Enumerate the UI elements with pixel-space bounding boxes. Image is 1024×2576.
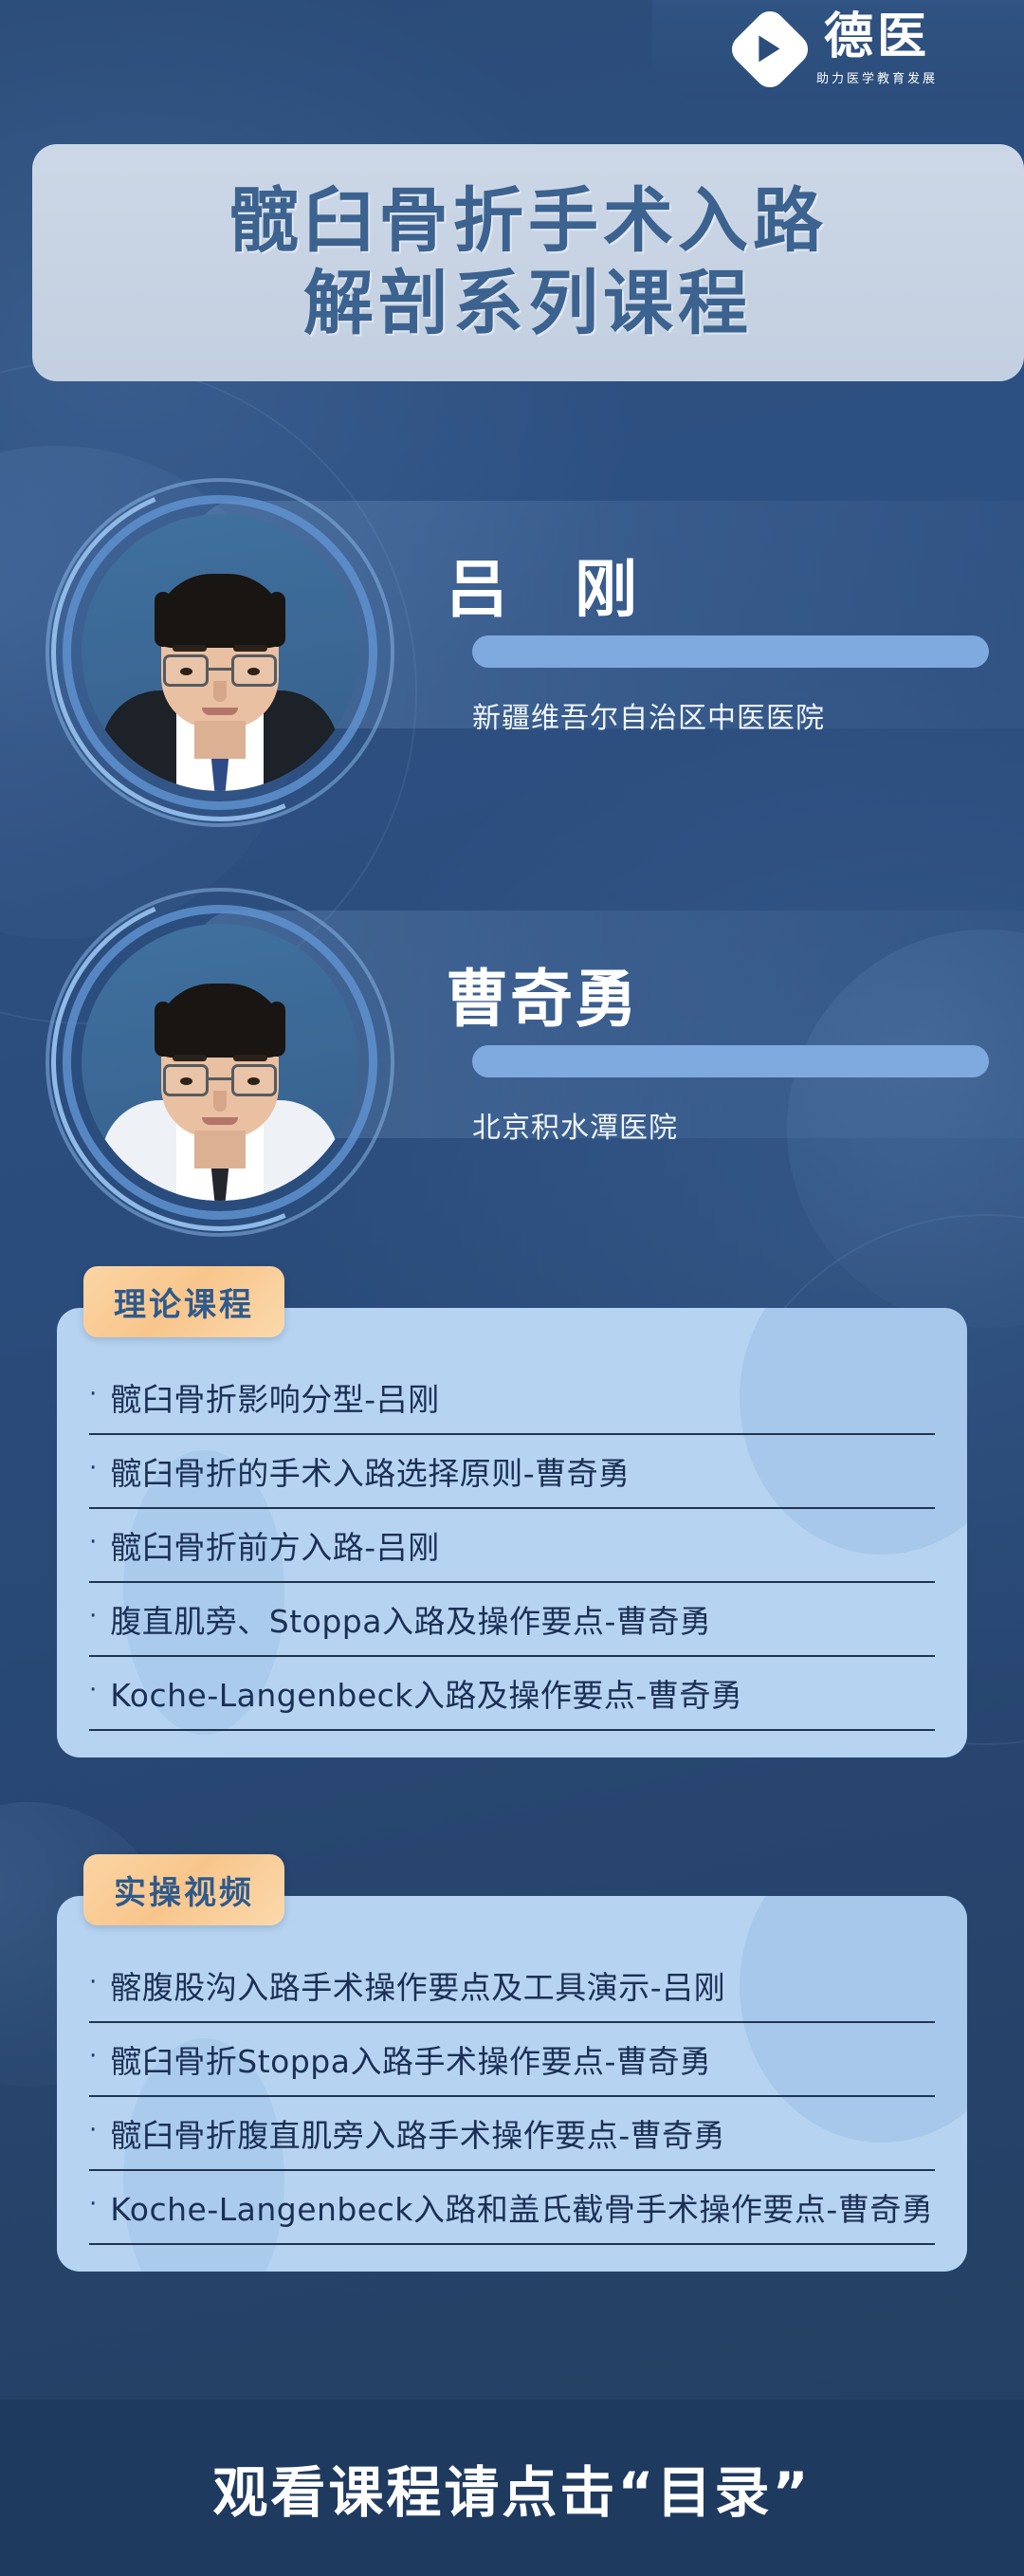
speaker-card-2: 曹奇勇 北京积水潭医院 (0, 865, 1024, 1244)
brand-name: 德医 (824, 12, 930, 62)
page-title-line-1: 髋臼骨折手术入路 (229, 180, 828, 263)
list-item[interactable]: · 髋臼骨折的手术入路选择原则-曹奇勇 (89, 1435, 935, 1509)
course-title: 髋臼骨折Stoppa入路手术操作要点-曹奇勇 (110, 2036, 711, 2082)
speaker-name-underline (472, 635, 989, 668)
section-badge-practical: 实操视频 (83, 1854, 284, 1925)
list-item[interactable]: · 髋臼骨折腹直肌旁入路手术操作要点-曹奇勇 (89, 2097, 935, 2171)
avatar (46, 478, 394, 827)
speaker-name-underline (472, 1045, 989, 1077)
play-diamond-icon (725, 5, 814, 93)
bullet-icon: · (89, 1604, 97, 1634)
list-item[interactable]: · 髋臼骨折前方入路-吕刚 (89, 1509, 935, 1583)
brand-logo-bar: 德医 助力医学教育发展 (652, 0, 1024, 99)
section-badge-theory: 理论课程 (83, 1266, 284, 1337)
list-item[interactable]: · Koche-Langenbeck入路及操作要点-曹奇勇 (89, 1657, 935, 1731)
course-title: 腹直肌旁、Stoppa入路及操作要点-曹奇勇 (110, 1596, 711, 1642)
course-list-card: · 髂腹股沟入路手术操作要点及工具演示-吕刚 · 髋臼骨折Stoppa入路手术操… (57, 1896, 967, 2272)
page-title-card: 髋臼骨折手术入路 解剖系列课程 (32, 144, 1024, 381)
brand-tagline: 助力医学教育发展 (816, 68, 938, 86)
list-item[interactable]: · 髋臼骨折Stoppa入路手术操作要点-曹奇勇 (89, 2023, 935, 2097)
speaker-card-1: 吕 刚 新疆维吾尔自治区中医医院 (0, 455, 1024, 835)
bullet-icon: · (89, 1678, 97, 1708)
bullet-icon: · (89, 1456, 97, 1486)
speaker-name: 吕 刚 (446, 539, 639, 630)
bullet-icon: · (89, 2044, 97, 2074)
bullet-icon: · (89, 1382, 97, 1412)
speaker-organization: 新疆维吾尔自治区中医医院 (472, 694, 825, 736)
speaker-organization: 北京积水潭医院 (472, 1104, 678, 1146)
course-title: 髋臼骨折前方入路-吕刚 (110, 1522, 439, 1568)
avatar-face (161, 996, 279, 1138)
course-title: 髋臼骨折腹直肌旁入路手术操作要点-曹奇勇 (110, 2110, 725, 2156)
brand-text: 德医 助力医学教育发展 (816, 12, 938, 86)
course-title: 髂腹股沟入路手术操作要点及工具演示-吕刚 (110, 1962, 725, 2008)
course-list-card: · 髋臼骨折影响分型-吕刚 · 髋臼骨折的手术入路选择原则-曹奇勇 · 髋臼骨折… (57, 1308, 967, 1757)
speaker-name: 曹奇勇 (446, 948, 639, 1040)
avatar-photo (82, 514, 358, 791)
footer-cta-bar: 观看课程请点击“目录” (0, 2400, 1024, 2576)
course-title: Koche-Langenbeck入路及操作要点-曹奇勇 (110, 1670, 742, 1716)
list-item[interactable]: · 腹直肌旁、Stoppa入路及操作要点-曹奇勇 (89, 1583, 935, 1657)
avatar (46, 888, 394, 1237)
avatar-face (161, 586, 279, 728)
list-item[interactable]: · 髋臼骨折影响分型-吕刚 (89, 1361, 935, 1435)
course-title: 髋臼骨折影响分型-吕刚 (110, 1374, 439, 1420)
list-item[interactable]: · 髂腹股沟入路手术操作要点及工具演示-吕刚 (89, 1949, 935, 2023)
course-title: 髋臼骨折的手术入路选择原则-曹奇勇 (110, 1448, 630, 1494)
avatar-photo (82, 924, 358, 1201)
bullet-icon: · (89, 2118, 97, 2148)
list-item[interactable]: · Koche-Langenbeck入路和盖氏截骨手术操作要点-曹奇勇 (89, 2171, 935, 2245)
footer-cta-text: 观看课程请点击“目录” (212, 2448, 811, 2528)
bullet-icon: · (89, 1970, 97, 2000)
page-title-line-2: 解剖系列课程 (303, 263, 753, 345)
course-title: Koche-Langenbeck入路和盖氏截骨手术操作要点-曹奇勇 (110, 2184, 933, 2230)
bullet-icon: · (89, 2192, 97, 2222)
bullet-icon: · (89, 1530, 97, 1560)
